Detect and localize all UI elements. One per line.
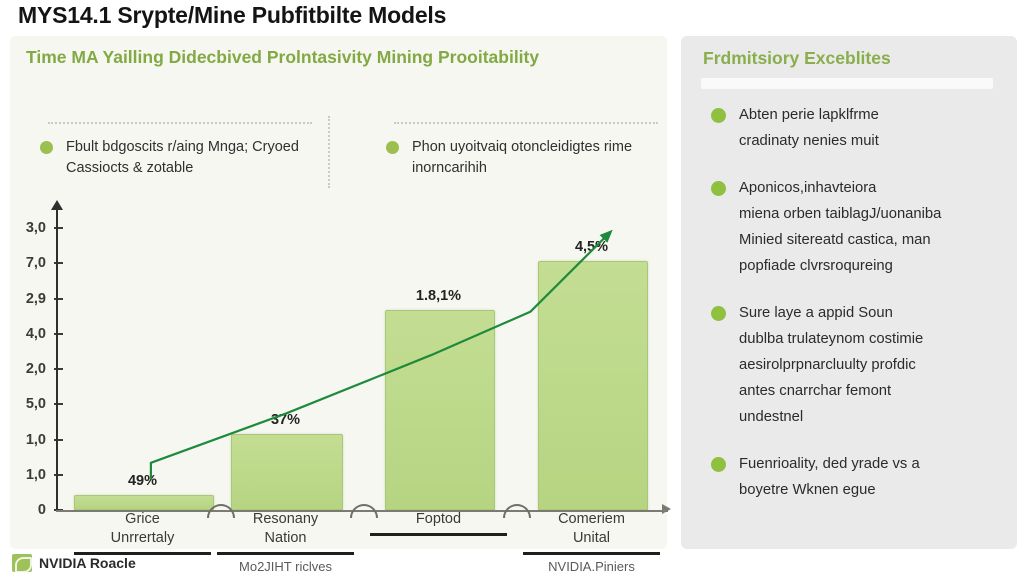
insights-list: Abten perie lapklfrme cradinaty nenies m…	[699, 102, 1005, 524]
y-axis-tick-label: 2,9	[26, 291, 46, 307]
legend-dotted-rule	[394, 122, 658, 125]
x-axis-group-label: Grice Unrrertaly	[63, 510, 223, 548]
y-axis-ticks: 3,07,02,94,02,05,01,01,00	[10, 188, 56, 518]
insight-item[interactable]: Aponicos,inhavteiora miena orben taiblag…	[699, 175, 1005, 279]
chart-subtitle: Time MA Yailling Didecbived Prolntasivit…	[26, 47, 539, 68]
insight-bullet-icon	[711, 457, 726, 472]
y-axis-tick-label: 5,0	[26, 396, 46, 412]
x-axis-group-sublabel: NVIDIA.Piniers	[512, 559, 672, 574]
y-axis-tick-label: 3,0	[26, 220, 46, 236]
bar-value-label: 1.8,1%	[379, 288, 499, 304]
x-axis-group-rule	[523, 552, 661, 555]
bar[interactable]	[538, 261, 648, 510]
legend-column: Phon uyoitvaiq otoncleidigtes rime inorn…	[376, 116, 666, 179]
footer-logo: NVIDIA Roacle	[12, 552, 136, 574]
chart-legend: Fbult bdgoscits r/aing Mnga; Cryoed Cass…	[28, 116, 648, 188]
x-axis-group-label: Foptod	[359, 510, 519, 529]
y-axis-line	[56, 208, 58, 511]
y-axis-tick-label: 1,0	[26, 432, 46, 448]
footer-logo-text: NVIDIA Roacle	[39, 555, 136, 571]
insight-item-text: Fuenrioality, ded yrade vs a boyetre Wkn…	[739, 451, 1001, 503]
bar-value-label: 49%	[83, 473, 203, 489]
y-axis-tick-label: 4,0	[26, 326, 46, 342]
nvidia-eye-icon	[12, 554, 32, 572]
insight-bullet-icon	[711, 108, 726, 123]
legend-bullet-icon	[40, 141, 53, 154]
insights-panel: Frdmitsiory Exceblites Abten perie lapkl…	[681, 36, 1017, 549]
bar-value-label: 4,5%	[532, 239, 652, 255]
legend-item: Fbult bdgoscits r/aing Mnga; Cryoed Cass…	[30, 137, 320, 179]
bar[interactable]	[385, 310, 495, 510]
y-axis-tick-label: 1,0	[26, 467, 46, 483]
insight-item[interactable]: Sure laye a appid Soun dublba trulateyno…	[699, 300, 1005, 430]
legend-column: Fbult bdgoscits r/aing Mnga; Cryoed Cass…	[30, 116, 320, 179]
plot-area: 3,07,02,94,02,05,01,01,00 49%37%1.8,1%4,…	[10, 188, 667, 518]
x-axis-group: Resonany NationMo2JIHT riclves	[206, 510, 366, 574]
legend-vertical-divider	[328, 116, 330, 188]
insights-panel-title: Frdmitsiory Exceblites	[703, 48, 891, 69]
legend-item: Phon uyoitvaiq otoncleidigtes rime inorn…	[376, 137, 666, 179]
insight-item[interactable]: Abten perie lapklfrme cradinaty nenies m…	[699, 102, 1005, 154]
bar-value-label: 37%	[226, 412, 346, 428]
bar[interactable]	[231, 434, 343, 510]
insight-item-text: Sure laye a appid Soun dublba trulateyno…	[739, 300, 1001, 430]
legend-item-label: Fbult bdgoscits r/aing Mnga; Cryoed Cass…	[66, 139, 299, 176]
legend-dotted-rule	[48, 122, 312, 125]
chart-card: Time MA Yailling Didecbived Prolntasivit…	[10, 36, 667, 549]
insight-item-text: Aponicos,inhavteiora miena orben taiblag…	[739, 175, 1001, 279]
bar[interactable]	[74, 495, 214, 510]
insight-bullet-icon	[711, 181, 726, 196]
x-axis-group-sublabel: Mo2JIHT riclves	[206, 559, 366, 574]
insight-item-text: Abten perie lapklfrme cradinaty nenies m…	[739, 102, 1001, 154]
insight-bullet-icon	[711, 306, 726, 321]
x-axis-group-label: Comeriem Unital	[512, 510, 672, 548]
x-axis-group: Comeriem UnitalNVIDIA.Piniers	[512, 510, 672, 574]
legend-bullet-icon	[386, 141, 399, 154]
x-axis-group-label: Resonany Nation	[206, 510, 366, 548]
y-axis-tick-label: 7,0	[26, 255, 46, 271]
page-title: MYS14.1 Srypte/Mine Pubfitbilte Models	[18, 2, 446, 29]
insight-item[interactable]: Fuenrioality, ded yrade vs a boyetre Wkn…	[699, 451, 1005, 503]
x-axis-group: Grice Unrrertaly	[63, 510, 223, 555]
legend-item-label: Phon uyoitvaiq otoncleidigtes rime inorn…	[412, 139, 632, 176]
x-axis-group: Foptod	[359, 510, 519, 536]
insights-panel-title-underline	[701, 78, 993, 89]
y-axis-tick-label: 2,0	[26, 361, 46, 377]
y-axis-arrow-icon	[51, 200, 63, 210]
x-axis-group-rule	[217, 552, 355, 555]
x-axis-group-rule	[370, 533, 508, 536]
